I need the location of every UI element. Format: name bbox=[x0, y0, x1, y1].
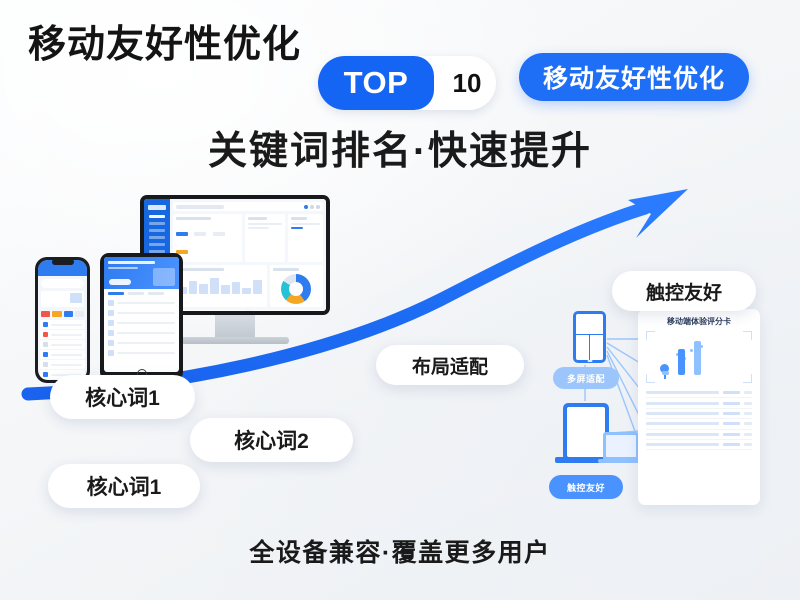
dashboard-search-field bbox=[176, 205, 224, 209]
chip bbox=[176, 232, 188, 236]
tab-item bbox=[128, 292, 144, 295]
chip bbox=[75, 311, 84, 317]
card-chips bbox=[176, 223, 239, 259]
table-row bbox=[646, 419, 752, 429]
pill-keyword-2: 核心词2 bbox=[190, 418, 353, 462]
mobile-score-card: 移动端体验评分卡 bbox=[638, 309, 760, 505]
list-item bbox=[40, 350, 85, 359]
top-10-badge: TOP 10 bbox=[318, 56, 496, 110]
sidebar-item bbox=[149, 222, 165, 225]
dashboard-chart-card bbox=[250, 310, 324, 311]
list-item bbox=[40, 320, 85, 329]
illus-tablet-screen bbox=[567, 407, 605, 457]
tab-item bbox=[108, 292, 124, 295]
phone-search-bar bbox=[41, 279, 84, 288]
dashboard-row bbox=[173, 214, 323, 262]
page-title: 移动友好性优化 bbox=[28, 26, 301, 64]
hero-line bbox=[108, 267, 138, 269]
pill-keyword-1: 核心词1 bbox=[50, 375, 195, 419]
illus-touch-pill: 触控友好 bbox=[549, 475, 623, 499]
phone-notch bbox=[52, 259, 74, 265]
score-card-title: 移动端体验评分卡 bbox=[646, 316, 752, 327]
tablet-screen bbox=[104, 257, 179, 372]
page-subtitle: 关键词排名·快速提升 bbox=[0, 120, 800, 176]
chip bbox=[194, 232, 206, 236]
tablet-hero-banner bbox=[104, 257, 179, 289]
card-thumbnail bbox=[70, 293, 82, 303]
sidebar-item bbox=[149, 243, 165, 246]
dashboard-main bbox=[170, 199, 326, 311]
card-title-bar bbox=[273, 268, 299, 271]
poster-canvas: 移动友好性优化 TOP 10 移动友好性优化 关键词排名·快速提升 bbox=[0, 0, 800, 600]
table-row bbox=[646, 398, 752, 408]
phone-screen bbox=[38, 260, 87, 380]
illus-phone-home bbox=[587, 360, 592, 362]
dashboard-topbar bbox=[173, 202, 323, 211]
card-line bbox=[291, 223, 320, 225]
header-blue-pill: 移动友好性优化 bbox=[519, 53, 749, 101]
list-item bbox=[40, 340, 85, 349]
hero-cta-button bbox=[109, 279, 131, 285]
dashboard-donut-card bbox=[270, 265, 323, 307]
pill-layout-adapt: 布局适配 bbox=[376, 345, 524, 385]
table-row bbox=[646, 388, 752, 398]
list-item bbox=[104, 328, 179, 338]
dashboard-chart-card bbox=[173, 265, 267, 307]
phone-category-chips bbox=[38, 309, 87, 319]
list-item bbox=[104, 318, 179, 328]
list-item bbox=[104, 338, 179, 348]
card-title-bar bbox=[248, 217, 267, 220]
dashboard-row bbox=[173, 310, 323, 311]
monitor-base bbox=[181, 337, 289, 344]
phone-feature-card bbox=[41, 291, 84, 307]
illus-laptop-screen bbox=[606, 435, 636, 457]
chip bbox=[64, 311, 73, 317]
sidebar-item bbox=[149, 236, 165, 239]
list-item bbox=[40, 330, 85, 339]
list-item bbox=[104, 348, 179, 358]
dashboard-card bbox=[245, 214, 285, 262]
table-row bbox=[646, 440, 752, 450]
pill-keyword-3: 核心词1 bbox=[48, 464, 200, 508]
illus-phone-screen bbox=[576, 314, 603, 360]
tablet-mockup bbox=[100, 253, 183, 381]
dashboard-card bbox=[173, 214, 242, 262]
card-title-bar bbox=[176, 217, 211, 220]
sidebar-item bbox=[149, 215, 165, 218]
hero-image bbox=[153, 268, 175, 286]
donut-chart bbox=[281, 274, 311, 304]
top-badge-label: TOP bbox=[318, 56, 434, 110]
status-dot-icon bbox=[304, 205, 308, 209]
chip bbox=[52, 311, 61, 317]
dashboard-row bbox=[173, 265, 323, 307]
card-line bbox=[291, 227, 302, 229]
card-title-bar bbox=[176, 268, 224, 271]
list-item bbox=[104, 308, 179, 318]
table-row bbox=[646, 409, 752, 419]
card-title-bar bbox=[291, 217, 307, 220]
dashboard-chart-card bbox=[173, 310, 247, 311]
bar-chart bbox=[176, 274, 264, 296]
list-item bbox=[104, 298, 179, 308]
card-line bbox=[248, 223, 282, 225]
dashboard-logo bbox=[148, 205, 166, 210]
illus-laptop bbox=[603, 432, 639, 460]
score-bar-chart bbox=[662, 333, 736, 375]
device-mockups bbox=[30, 195, 330, 385]
chip bbox=[41, 311, 50, 317]
hero-line bbox=[108, 261, 155, 264]
footer-tagline: 全设备兼容·覆盖更多用户 bbox=[0, 533, 800, 569]
illus-multi-screen-pill: 多屏适配 bbox=[553, 367, 619, 389]
illus-phone bbox=[573, 311, 606, 363]
responsive-illustration: 多屏适配 触控友好 移动端体验评分卡 bbox=[545, 305, 760, 510]
tab-item bbox=[148, 292, 164, 295]
top-badge-number: 10 bbox=[444, 60, 490, 106]
score-card-chart-frame bbox=[646, 331, 752, 383]
sidebar-item bbox=[149, 229, 165, 232]
tablet-tab-bar bbox=[104, 289, 179, 298]
list-item bbox=[40, 360, 85, 369]
status-dot-icon bbox=[310, 205, 314, 209]
chip bbox=[213, 232, 225, 236]
phone-mockup bbox=[35, 257, 90, 383]
monitor-stand bbox=[215, 315, 255, 337]
card-line bbox=[248, 227, 269, 229]
dashboard-card bbox=[288, 214, 323, 262]
status-dot-icon bbox=[316, 205, 320, 209]
pill-touch-friendly: 触控友好 bbox=[612, 271, 756, 311]
table-row bbox=[646, 430, 752, 440]
